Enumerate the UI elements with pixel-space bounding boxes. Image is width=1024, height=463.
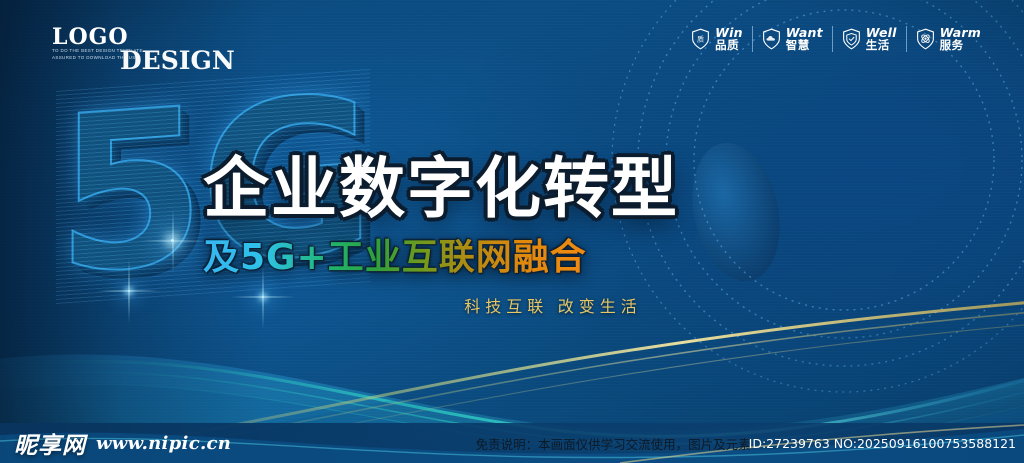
disclaimer-text: 免责说明：本画面仅供学习交流使用，图片及元素 xyxy=(476,434,751,453)
feature-badge-want[interactable]: Want 智慧 xyxy=(753,26,832,52)
shield-shield-icon xyxy=(842,28,861,50)
feature-en-label: Want xyxy=(786,26,823,39)
page-tagline: 科技互联 改变生活 xyxy=(203,293,763,317)
sparkle-glow xyxy=(171,239,174,242)
feature-cn-label: 生活 xyxy=(866,40,897,52)
svg-text:质: 质 xyxy=(697,34,704,43)
poster-canvas: 5G LOGO TO DO THE BEST DESIGN TEMPLATE A… xyxy=(0,0,1024,463)
logo[interactable]: LOGO TO DO THE BEST DESIGN TEMPLATE ASSU… xyxy=(52,26,143,61)
sparkle-glow xyxy=(128,290,130,292)
feature-cn-label: 服务 xyxy=(940,40,981,52)
feature-badge-list: 质 Win 品质 Want 智慧 xyxy=(682,26,990,52)
asset-id-text: ID:27239763 NO:20250916100753588121 xyxy=(749,436,1016,451)
footer-bar: 昵享网 www.nipic.cn 免责说明：本画面仅供学习交流使用，图片及元素 … xyxy=(0,423,1024,463)
feature-en-label: Win xyxy=(715,26,743,39)
site-watermark[interactable]: 昵享网 www.nipic.cn xyxy=(0,426,231,460)
headline-block: 企业数字化转型 及5G+工业互联网融合 科技互联 改变生活 xyxy=(203,155,763,317)
page-title: 企业数字化转型 xyxy=(203,155,763,222)
page-subtitle: 及5G+工业互联网融合 xyxy=(203,237,587,278)
shield-atom-icon xyxy=(916,28,935,50)
feature-badge-win[interactable]: 质 Win 品质 xyxy=(682,26,752,52)
feature-badge-warm[interactable]: Warm 服务 xyxy=(907,26,990,52)
footer-disclaimer: 免责说明：本画面仅供学习交流使用，图片及元素 ID:27239763 NO:20… xyxy=(476,434,1024,453)
logo-design-text: DESIGN xyxy=(120,46,235,75)
feature-cn-label: 品质 xyxy=(715,40,743,52)
shield-quality-icon: 质 xyxy=(691,28,710,50)
watermark-url-text: www.nipic.cn xyxy=(96,433,231,454)
shield-cloud-icon xyxy=(762,28,781,50)
subtitle-wrapper: 及5G+工业互联网融合 xyxy=(203,228,763,280)
feature-cn-label: 智慧 xyxy=(786,40,823,52)
feature-en-label: Well xyxy=(866,26,897,39)
logo-main-text: LOGO xyxy=(52,26,143,48)
feature-en-label: Warm xyxy=(940,26,981,39)
feature-badge-well[interactable]: Well 生活 xyxy=(833,26,906,52)
watermark-cn-text: 昵享网 xyxy=(14,426,86,460)
